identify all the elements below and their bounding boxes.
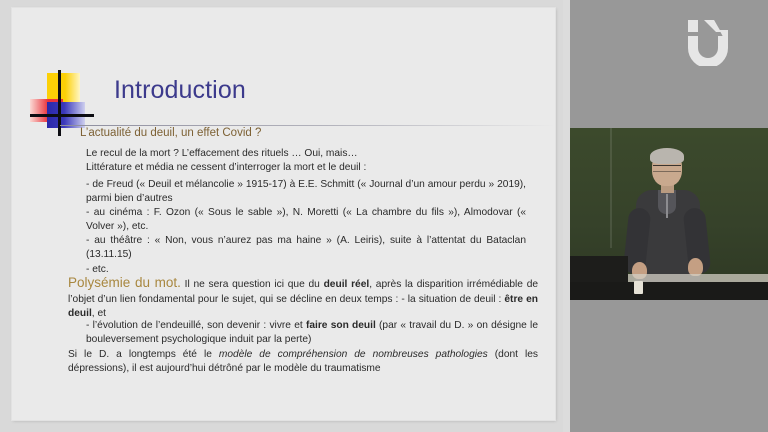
- paragraph-theatre: - au théâtre : « Non, vous n’aurez pas m…: [86, 234, 526, 262]
- slide-pane: Introduction L’actualité du deuil, un ef…: [0, 0, 563, 432]
- paragraph-polysemie: Polysémie du mot. Il ne sera question ic…: [68, 276, 538, 322]
- paragraph-cinema: - au cinéma : F. Ozon (« Sous le sable »…: [86, 206, 526, 234]
- lecture-video-viewer: Introduction L’actualité du deuil, un ef…: [0, 0, 768, 432]
- video-pane-filler: [570, 300, 768, 432]
- evolution-bold: faire son deuil: [306, 320, 376, 331]
- glasses-icon: [653, 165, 681, 172]
- polysemie-text-3: , et: [92, 308, 106, 319]
- brand-header: [570, 0, 768, 128]
- slide-canvas[interactable]: Introduction L’actualité du deuil, un ef…: [12, 8, 555, 420]
- slide-body: L’actualité du deuil, un effet Covid ? L…: [12, 8, 555, 420]
- paragraph-freud: - de Freud (« Deuil et mélancolie » 1915…: [86, 178, 526, 206]
- evolution-text-1: - l’évolution de l’endeuillé, son deveni…: [86, 320, 306, 331]
- desk-front: [570, 282, 768, 300]
- chalkboard-seam: [610, 128, 612, 248]
- lecturer-zipper: [666, 194, 668, 218]
- final-text-1: Si le D. a longtemps été le: [68, 349, 219, 360]
- slide-subheading: L’actualité du deuil, un effet Covid ?: [80, 127, 261, 139]
- video-player[interactable]: [570, 128, 768, 300]
- paragraph-evolution: - l’évolution de l’endeuillé, son deveni…: [86, 319, 538, 347]
- final-italic: modèle de compréhension de nombreuses pa…: [219, 349, 488, 360]
- polysemie-bold-1: deuil réel: [324, 279, 370, 290]
- lecturer-hair: [650, 148, 684, 164]
- paragraph-recul: Le recul de la mort ? L’effacement des r…: [86, 147, 526, 161]
- polysemie-label: Polysémie du mot.: [68, 275, 181, 290]
- cup-icon: [634, 281, 643, 294]
- pane-divider: [563, 0, 570, 432]
- paragraph-final: Si le D. a longtemps été le modèle de co…: [68, 348, 538, 376]
- polysemie-text-1: Il ne sera question ici que du: [181, 279, 324, 290]
- paragraph-litterature: Littérature et média ne cessent d’interr…: [86, 161, 526, 175]
- lecturer-figure: [622, 150, 718, 290]
- university-iu-monogram-logo-icon: [686, 18, 730, 66]
